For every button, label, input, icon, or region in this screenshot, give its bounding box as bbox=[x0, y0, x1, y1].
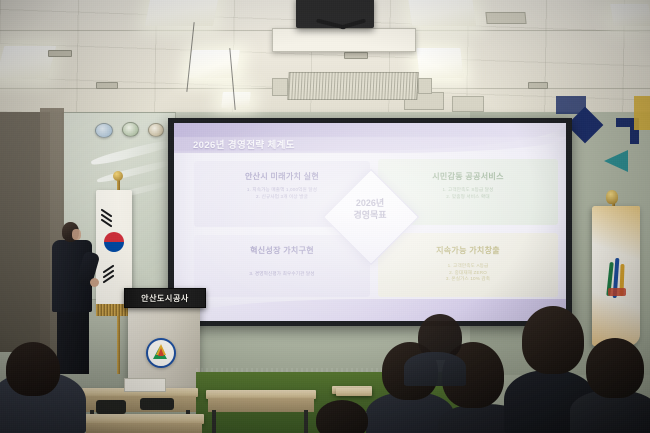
hvac-side-grille bbox=[418, 78, 432, 94]
center-goal-label: 경영목표 bbox=[337, 209, 403, 221]
center-goal-year: 2026년 bbox=[337, 197, 403, 209]
flag-emblem bbox=[606, 258, 628, 304]
emblem-accent bbox=[608, 288, 626, 296]
quadrant-lines-bottom-right: 1. 고객만족도 A등급 2. 중대재해 ZERO 3. 온실가스 10% 감축 bbox=[378, 263, 558, 283]
presenter-face bbox=[72, 229, 81, 240]
quadrant-lines-bottom-left: 3. 경영혁신평가 최우수기관 달성 bbox=[194, 271, 370, 278]
desk-name-plate bbox=[124, 378, 166, 392]
desk-front-panel bbox=[208, 398, 314, 412]
slide-footer-ribbon bbox=[174, 299, 566, 321]
ceiling-light-panel bbox=[408, 0, 476, 26]
slide-title: 2026년 경영전략 체계도 bbox=[193, 137, 295, 151]
quadrant-heading-top-right: 시민감동 공공서비스 bbox=[378, 171, 558, 182]
audience-head bbox=[316, 400, 368, 433]
podium-sign-text: 안산도시공사 bbox=[141, 293, 189, 304]
quadrant-heading-top-left: 안산시 미래가치 실현 bbox=[194, 171, 370, 182]
hvac-side-grille bbox=[272, 78, 288, 96]
ceiling-hvac-diffuser bbox=[287, 72, 418, 100]
chair bbox=[140, 398, 174, 410]
ceiling-speaker bbox=[96, 82, 118, 89]
taegeuk-blue bbox=[104, 242, 124, 252]
quadrant-line: 3. 경영혁신평가 최우수기관 달성 bbox=[194, 271, 370, 278]
projection-screen[interactable]: 2026년 경영전략 체계도 안산시 미래가치 실현 1. 지속가능 매출액 1… bbox=[174, 123, 566, 321]
wall-decor-bar bbox=[634, 96, 650, 130]
flag-finial-left bbox=[113, 171, 123, 181]
ceiling-vent bbox=[485, 12, 526, 24]
wall-decor-triangle bbox=[604, 150, 628, 172]
ceiling-speaker bbox=[528, 82, 548, 89]
logo-shape-red bbox=[158, 348, 164, 356]
desk-leg bbox=[212, 410, 216, 433]
desk-leg bbox=[304, 410, 308, 433]
quadrant-line: 1. 지속가능 매출액 1,000억원 달성 bbox=[194, 187, 370, 194]
ceiling-light-panel bbox=[610, 4, 650, 26]
presenter-hand bbox=[90, 278, 99, 287]
ceiling-vent bbox=[452, 96, 484, 112]
flag-finial-right bbox=[606, 190, 618, 204]
desk-front-panel bbox=[86, 423, 202, 433]
quadrant-heading-bottom-left: 혁신성장 가치구현 bbox=[194, 245, 370, 256]
wall-emblem-plaque bbox=[95, 123, 113, 138]
wall-emblem-plaque bbox=[122, 122, 139, 137]
audience-head bbox=[522, 306, 584, 374]
quadrant-heading-bottom-right: 지속가능 가치창출 bbox=[378, 245, 558, 256]
slide-center-goal: 2026년 경영목표 bbox=[337, 197, 403, 221]
ceiling bbox=[0, 0, 650, 112]
taegeuk-red bbox=[104, 232, 124, 242]
quadrant-lines-top-right: 1. 고객만족도 S등급 달성 2. 맞춤형 서비스 확대 bbox=[378, 187, 558, 200]
ceiling-speaker bbox=[344, 52, 368, 59]
corporate-flag bbox=[592, 206, 640, 346]
quadrant-line: 2. 맞춤형 서비스 확대 bbox=[378, 194, 558, 201]
quadrant-line: 3. 온실가스 10% 감축 bbox=[378, 276, 558, 283]
chair bbox=[96, 400, 126, 414]
ceiling-light-panel bbox=[221, 92, 251, 108]
audience-head bbox=[586, 338, 644, 398]
ceiling-light-panel bbox=[416, 48, 463, 78]
wall-emblem-plaque bbox=[148, 123, 164, 137]
ceiling-light-panel bbox=[145, 0, 219, 26]
podium-name-sign: 안산도시공사 bbox=[124, 288, 206, 308]
quadrant-line: 1. 고객만족도 A등급 bbox=[378, 263, 558, 270]
presenter-legs bbox=[57, 308, 89, 374]
quadrant-line: 1. 고객만족도 S등급 달성 bbox=[378, 187, 558, 194]
presentation-room-photo: 2026년 경영전략 체계도 안산시 미래가치 실현 1. 지속가능 매출액 1… bbox=[0, 0, 650, 433]
projector-mount-plate bbox=[272, 28, 416, 52]
corporate-logo-icon bbox=[146, 338, 176, 368]
audience-member bbox=[404, 352, 466, 386]
desk bbox=[336, 388, 372, 396]
audience-head bbox=[6, 342, 60, 396]
ceiling-speaker bbox=[48, 50, 72, 57]
wall-decor-panel bbox=[556, 96, 586, 114]
